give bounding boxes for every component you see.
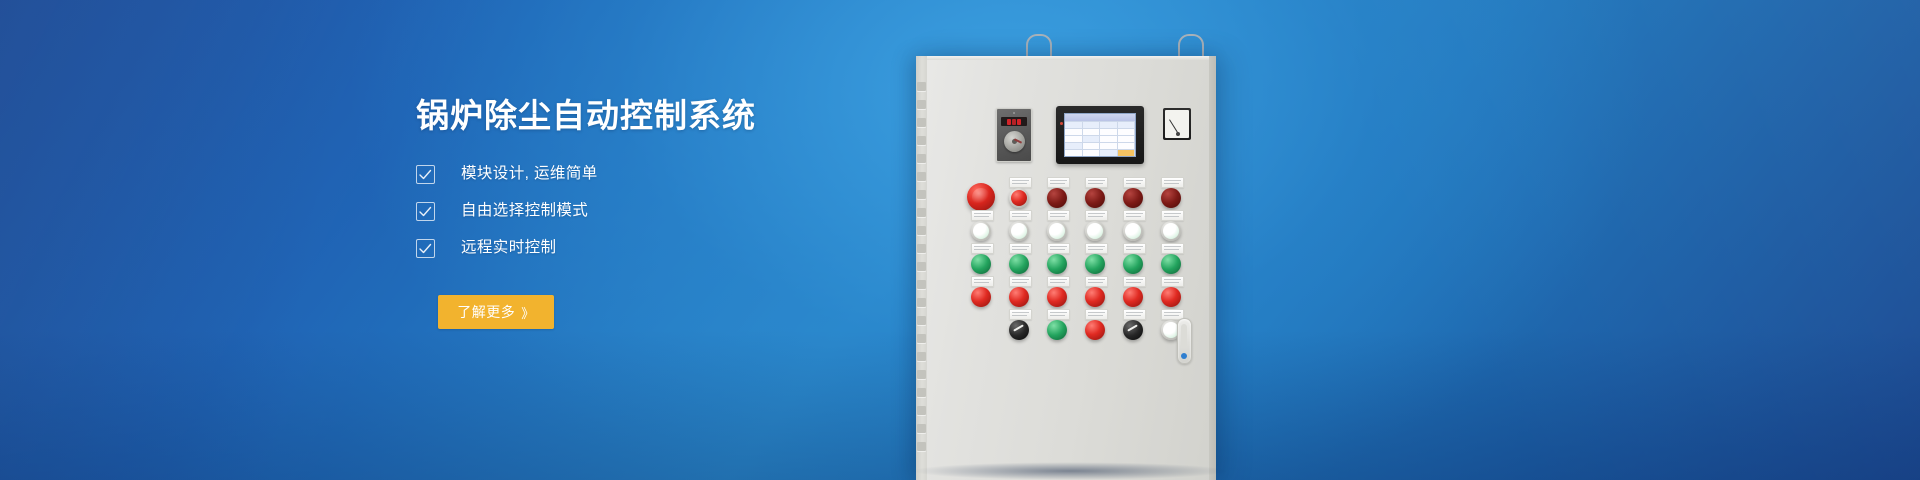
analog-panel-meter: [1163, 108, 1191, 140]
selector-knob-icon: [1123, 320, 1143, 340]
cabinet-door-handle[interactable]: [1177, 318, 1192, 364]
indicator-button[interactable]: [1038, 211, 1076, 244]
lamp-icon: [1161, 188, 1181, 208]
label-tag: [1047, 276, 1070, 287]
label-tag: [971, 276, 994, 287]
cabinet-body: [916, 56, 1216, 480]
digital-speed-controller[interactable]: [996, 108, 1032, 162]
hmi-screen[interactable]: [1064, 113, 1136, 157]
table-row: [1065, 121, 1135, 128]
label-tag: [1009, 210, 1032, 221]
lamp-icon: [971, 287, 991, 307]
feature-label: 自由选择控制模式: [461, 201, 588, 221]
label-tag: [971, 210, 994, 221]
emergency-and-indicator-row: [962, 178, 1190, 211]
check-square-icon: [416, 202, 435, 221]
lamp-icon: [1047, 221, 1067, 241]
label-tag: [1009, 276, 1032, 287]
table-row: [1065, 135, 1135, 142]
list-item: 模块设计, 运维简单: [416, 164, 936, 184]
lamp-icon: [1085, 287, 1105, 307]
label-tag: [1161, 177, 1184, 188]
white-indicator-row: [962, 211, 1190, 244]
chevron-right-icon: 》: [521, 303, 535, 322]
list-item: 远程实时控制: [416, 238, 936, 258]
label-tag: [1123, 210, 1146, 221]
learn-more-button[interactable]: 了解更多 》: [438, 295, 554, 329]
lamp-icon: [971, 254, 991, 274]
cabinet-right-edge: [1209, 56, 1216, 480]
lamp-icon: [971, 221, 991, 241]
empty-slot: [962, 310, 1000, 343]
stop-button[interactable]: [962, 277, 1000, 310]
table-row: [1065, 149, 1135, 156]
lamp-icon: [1047, 188, 1067, 208]
lamp-icon: [1047, 320, 1067, 340]
indicator-button[interactable]: [1076, 178, 1114, 211]
label-tag: [971, 243, 994, 254]
feature-label: 远程实时控制: [461, 238, 556, 258]
indicator-button[interactable]: [1000, 178, 1038, 211]
label-tag: [1009, 243, 1032, 254]
label-tag: [1009, 177, 1032, 188]
label-tag: [1161, 243, 1184, 254]
label-tag: [1085, 210, 1108, 221]
emergency-stop-button[interactable]: [962, 178, 1000, 211]
lamp-icon: [1085, 320, 1105, 340]
stop-button[interactable]: [1038, 277, 1076, 310]
handle-indicator-icon: [1181, 353, 1187, 359]
hmi-screen-table: [1065, 121, 1135, 156]
learn-more-label: 了解更多: [457, 302, 515, 322]
label-tag: [1085, 276, 1108, 287]
list-item: 自由选择控制模式: [416, 201, 936, 221]
label-tag: [1009, 309, 1032, 320]
start-button[interactable]: [1038, 244, 1076, 277]
table-row: [1065, 142, 1135, 149]
indicator-button[interactable]: [1076, 211, 1114, 244]
hmi-touch-panel[interactable]: [1056, 106, 1144, 164]
label-tag: [1047, 309, 1070, 320]
seven-segment-display: [1001, 117, 1027, 126]
indicator-button[interactable]: [1152, 178, 1190, 211]
label-tag: [1085, 243, 1108, 254]
selector-knob-icon: [1009, 320, 1029, 340]
lamp-icon: [1009, 188, 1029, 208]
button-matrix: [962, 178, 1190, 343]
label-tag: [1123, 177, 1146, 188]
stop-button[interactable]: [1000, 277, 1038, 310]
label-tag: [1161, 276, 1184, 287]
table-row: [1065, 128, 1135, 135]
cabinet-top-edge: [927, 56, 1209, 60]
label-tag: [1047, 210, 1070, 221]
green-start-button-row: [962, 244, 1190, 277]
check-square-icon: [416, 239, 435, 258]
indicator-button[interactable]: [1114, 211, 1152, 244]
lamp-icon: [1009, 287, 1029, 307]
start-button[interactable]: [1076, 244, 1114, 277]
hero-copy-block: 锅炉除尘自动控制系统 模块设计, 运维简单 自由选择控制模式: [416, 96, 936, 329]
lamp-icon: [1047, 254, 1067, 274]
indicator-button[interactable]: [1114, 178, 1152, 211]
label-tag: [1123, 276, 1146, 287]
lamp-icon: [1123, 188, 1143, 208]
feature-label: 模块设计, 运维简单: [461, 164, 598, 184]
label-tag: [1047, 243, 1070, 254]
stop-button[interactable]: [1076, 310, 1114, 343]
lamp-icon: [1085, 254, 1105, 274]
meter-pivot-icon: [1176, 132, 1180, 136]
lamp-icon: [1123, 287, 1143, 307]
lamp-icon: [1009, 221, 1029, 241]
label-tag: [1047, 177, 1070, 188]
start-button[interactable]: [1114, 244, 1152, 277]
control-cabinet-photo: [880, 0, 1920, 480]
check-square-icon: [416, 165, 435, 184]
lamp-icon: [1123, 254, 1143, 274]
label-tag: [1085, 177, 1108, 188]
red-stop-button-row: [962, 277, 1190, 310]
start-button[interactable]: [1152, 244, 1190, 277]
indicator-button[interactable]: [1038, 178, 1076, 211]
indicator-button[interactable]: [1000, 211, 1038, 244]
stop-button[interactable]: [1152, 277, 1190, 310]
lamp-icon: [1123, 221, 1143, 241]
hmi-screen-title-bar: [1065, 114, 1135, 121]
lamp-icon: [1161, 287, 1181, 307]
start-button[interactable]: [1000, 244, 1038, 277]
selector-switch-row: [962, 310, 1190, 343]
lamp-icon: [1085, 188, 1105, 208]
lamp-icon: [1047, 287, 1067, 307]
label-tag: [1161, 210, 1184, 221]
power-led-icon: [1060, 122, 1063, 125]
label-tag: [1123, 243, 1146, 254]
hero-banner: 锅炉除尘自动控制系统 模块设计, 运维简单 自由选择控制模式: [0, 0, 1920, 480]
handle-grip-icon: [1181, 324, 1187, 348]
label-tag: [1085, 309, 1108, 320]
indicator-button[interactable]: [1152, 211, 1190, 244]
selector-switch[interactable]: [1000, 310, 1038, 343]
lamp-icon: [1161, 221, 1181, 241]
feature-list: 模块设计, 运维简单 自由选择控制模式 远程实时控制: [416, 164, 936, 258]
start-button[interactable]: [1038, 310, 1076, 343]
lamp-icon: [1161, 254, 1181, 274]
selector-switch[interactable]: [1114, 310, 1152, 343]
lamp-icon: [1085, 221, 1105, 241]
status-dot-icon: [1013, 112, 1015, 114]
page-title: 锅炉除尘自动控制系统: [416, 96, 936, 136]
cabinet-ground-shadow: [910, 462, 1230, 480]
stop-button[interactable]: [1076, 277, 1114, 310]
stop-button[interactable]: [1114, 277, 1152, 310]
lamp-icon: [1009, 254, 1029, 274]
meter-face: [1165, 110, 1189, 138]
start-button[interactable]: [962, 244, 1000, 277]
label-tag: [1123, 309, 1146, 320]
estop-mushroom-icon: [967, 183, 995, 211]
indicator-button[interactable]: [962, 211, 1000, 244]
